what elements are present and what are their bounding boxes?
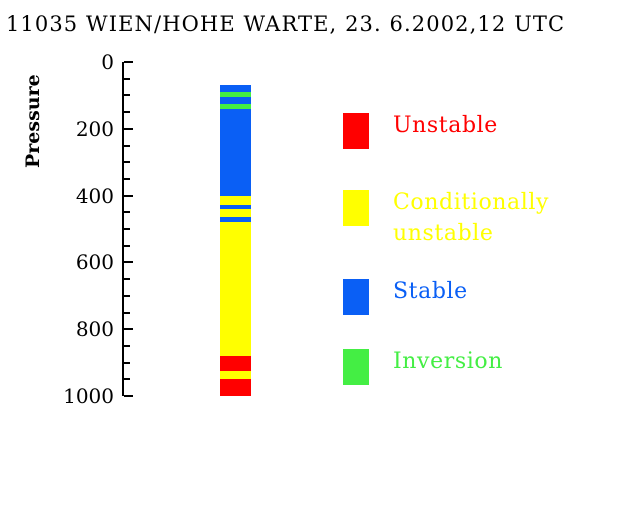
y-axis-major-tick (124, 328, 133, 330)
y-tick-label: 400 (76, 184, 114, 208)
y-axis-minor-tick (124, 278, 130, 280)
y-axis-minor-tick (124, 312, 130, 314)
profile-band (220, 85, 251, 92)
y-axis-minor-tick (124, 245, 130, 247)
legend-swatch (343, 113, 369, 149)
legend-label: Stable (393, 276, 468, 307)
profile-band (220, 97, 251, 104)
y-axis-minor-tick (124, 211, 130, 213)
y-axis-major-tick (124, 128, 133, 130)
legend-swatch (343, 349, 369, 385)
y-axis-minor-tick (124, 228, 130, 230)
plot-area: 02004006008001000 (122, 62, 252, 396)
chart-canvas: : 11035 WIEN/HOHE WARTE, 23. 6.2002,12 U… (0, 0, 640, 512)
y-axis-minor-tick (124, 378, 130, 380)
stability-profile-column (220, 62, 251, 396)
y-tick-label: 800 (76, 317, 114, 341)
y-axis-minor-tick (124, 94, 130, 96)
profile-band (220, 109, 251, 196)
y-axis-minor-tick (124, 111, 130, 113)
y-axis-minor-tick (124, 345, 130, 347)
y-axis-major-tick (124, 261, 133, 263)
legend-label: Inversion (393, 346, 503, 377)
y-tick-label: 0 (101, 50, 114, 74)
legend-swatch (343, 279, 369, 315)
y-axis-title: Pressure (22, 74, 44, 168)
y-axis-major-tick (124, 395, 133, 397)
legend-swatch (343, 190, 369, 226)
y-tick-label: 1000 (63, 384, 114, 408)
y-axis-minor-tick (124, 295, 130, 297)
y-axis-minor-tick (124, 178, 130, 180)
legend-label: Unstable (393, 110, 498, 141)
y-axis-minor-tick (124, 145, 130, 147)
profile-band (220, 356, 251, 371)
y-tick-label: 200 (76, 117, 114, 141)
y-axis-minor-tick (124, 78, 130, 80)
profile-band (220, 209, 251, 217)
legend-label: Conditionally unstable (393, 187, 549, 249)
profile-band (220, 222, 251, 356)
y-axis-major-tick (124, 195, 133, 197)
y-axis-minor-tick (124, 362, 130, 364)
y-tick-label: 600 (76, 250, 114, 274)
y-axis-minor-tick (124, 161, 130, 163)
y-axis-major-tick (124, 61, 133, 63)
profile-band (220, 379, 251, 396)
profile-band (220, 196, 251, 205)
chart-title: : 11035 WIEN/HOHE WARTE, 23. 6.2002,12 U… (0, 12, 640, 36)
profile-band (220, 371, 251, 379)
